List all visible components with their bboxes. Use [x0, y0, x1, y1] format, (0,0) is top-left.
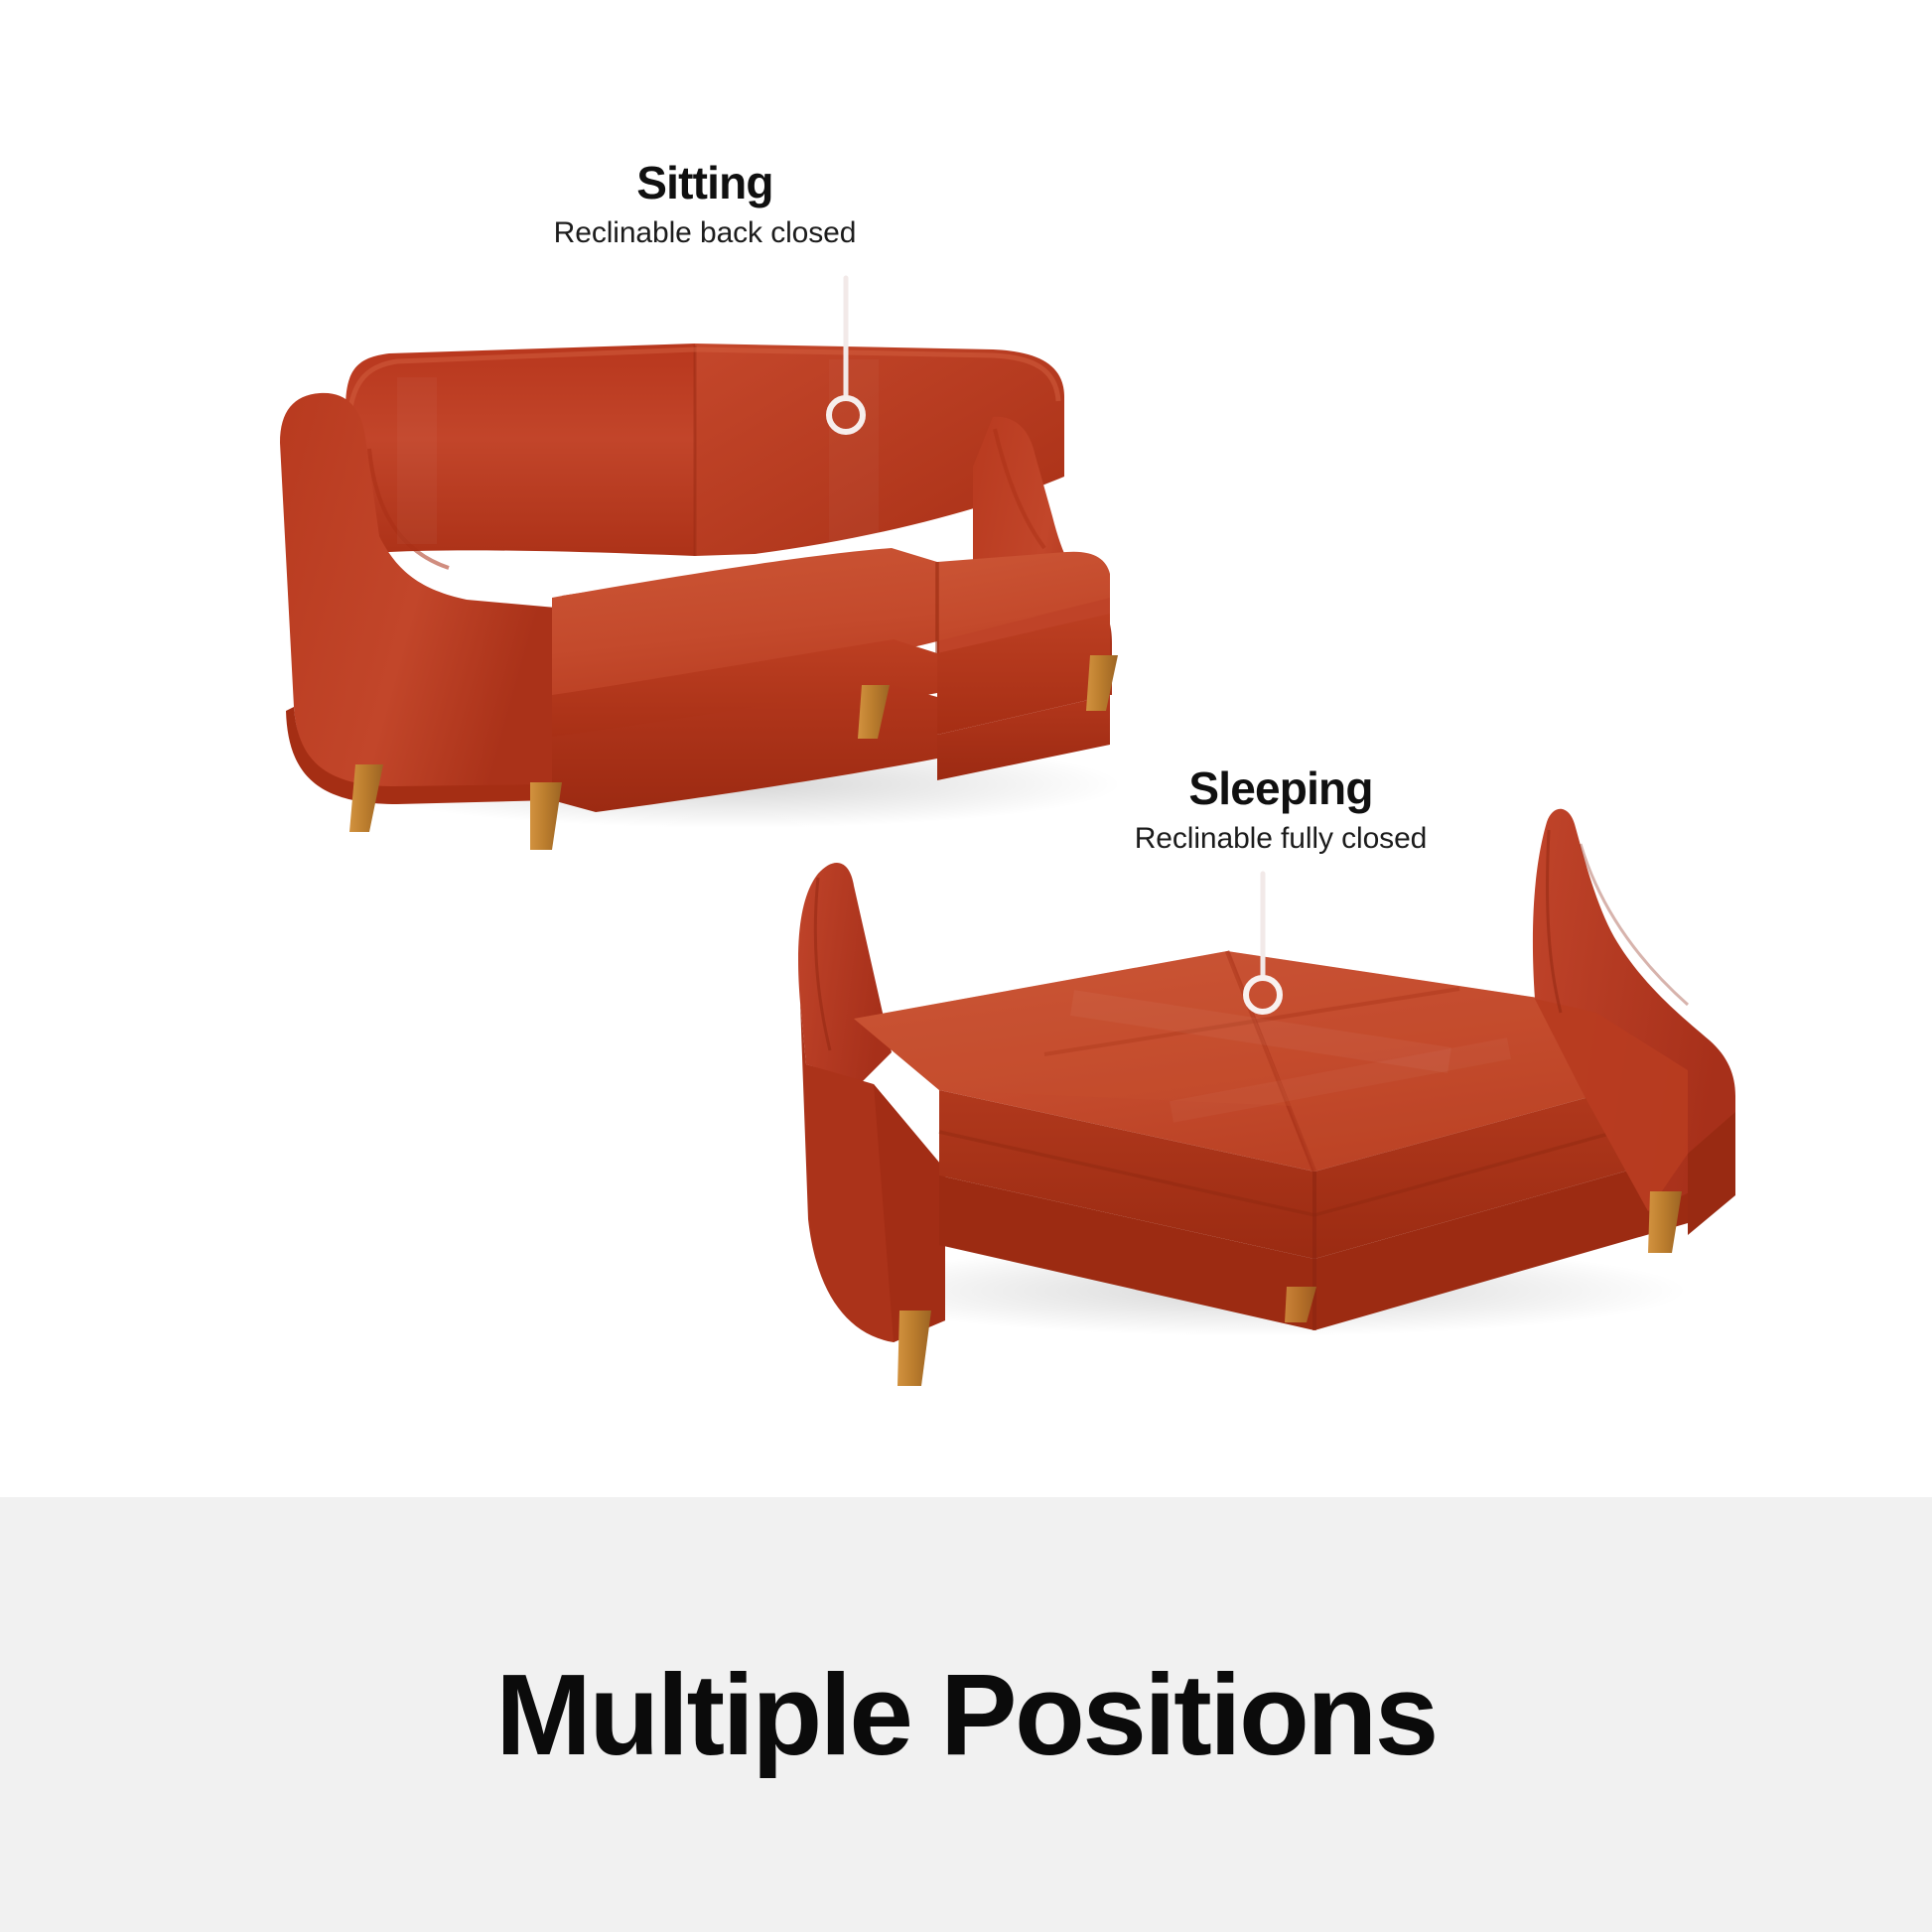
- callout-sleeping: Sleeping Reclinable fully closed: [1023, 764, 1539, 855]
- feature-banner: Multiple Positions: [0, 1497, 1932, 1932]
- callout-sleeping-title: Sleeping: [1023, 764, 1539, 814]
- illustration-stage: Sitting Reclinable back closed Sleeping …: [0, 0, 1932, 1497]
- banner-headline: Multiple Positions: [495, 1657, 1436, 1772]
- callout-sleeping-subtitle: Reclinable fully closed: [1023, 823, 1539, 855]
- sofa-sitting-illustration: [280, 344, 1122, 850]
- callout-sitting: Sitting Reclinable back closed: [447, 159, 963, 249]
- sofa-sleeping-illustration: [798, 809, 1735, 1386]
- callout-sitting-subtitle: Reclinable back closed: [447, 217, 963, 249]
- product-feature-graphic: Sitting Reclinable back closed Sleeping …: [0, 0, 1932, 1932]
- sofa-illustrations: [0, 0, 1932, 1497]
- callout-sitting-title: Sitting: [447, 159, 963, 208]
